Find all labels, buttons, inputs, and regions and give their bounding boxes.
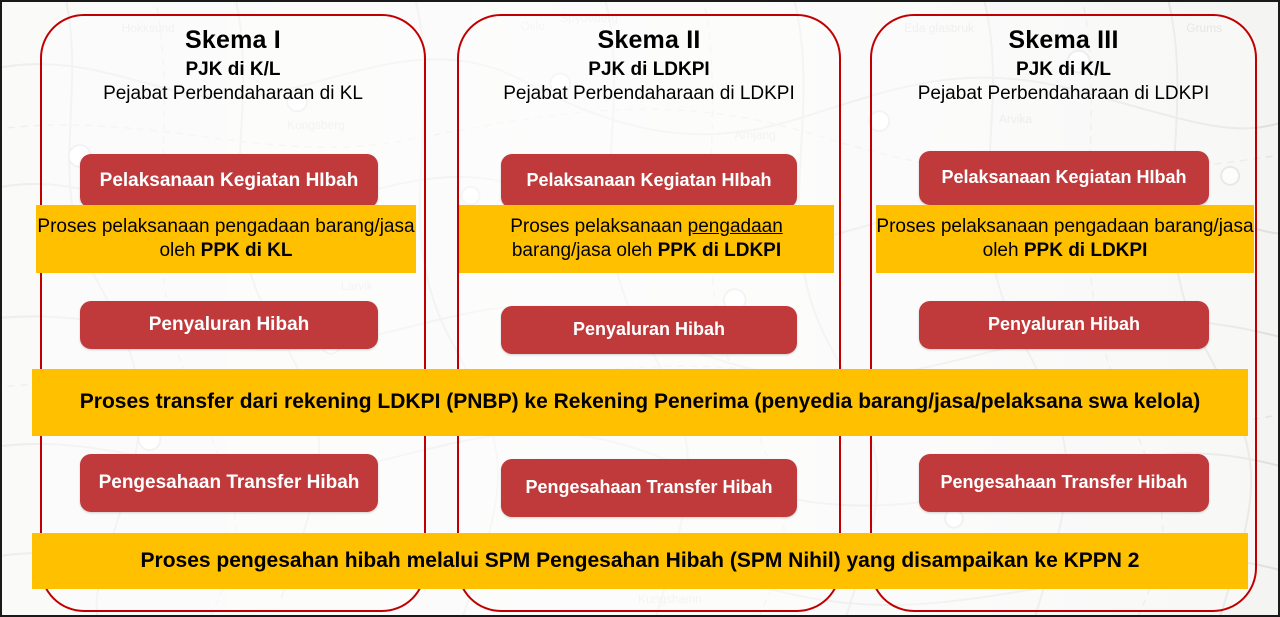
diagram-canvas: Kongsberg Larvik Oslo Arnjang Eda glasbr… (0, 0, 1280, 617)
banner-proses-transfer[interactable]: Proses transfer dari rekening LDKPI (PNB… (32, 369, 1248, 436)
banner-text: Proses transfer dari rekening LDKPI (PNB… (80, 389, 1200, 415)
bold-token: PPK di LDKPI (1024, 240, 1148, 261)
step-pelaksanaan-kegiatan-hibah-3[interactable]: Pelaksanaan Kegiatan HIbah (919, 151, 1209, 205)
step-penyaluran-hibah-3[interactable]: Penyaluran Hibah (919, 301, 1209, 349)
step-text: Proses pelaksanaan pengadaan barang/jasa… (36, 215, 416, 262)
scheme-2-title: Skema II (459, 26, 839, 56)
scheme-1-title: Skema I (42, 26, 424, 56)
step-label: Pengesahaan Transfer Hibah (940, 472, 1187, 494)
bold-token: PPK di KL (201, 240, 293, 261)
scheme-3-subtitle: PJK di K/L (872, 59, 1255, 81)
step-pengadaan-barang-jasa-1[interactable]: Proses pelaksanaan pengadaan barang/jasa… (36, 205, 416, 273)
scheme-2-caption: Pejabat Perbendaharaan di LDKPI (459, 83, 839, 105)
scheme-1-subtitle: PJK di K/L (42, 59, 424, 81)
step-pengesahaan-transfer-hibah-3[interactable]: Pengesahaan Transfer Hibah (919, 454, 1209, 512)
step-label: Pengesahaan Transfer Hibah (525, 477, 772, 499)
step-label: Pelaksanaan Kegiatan HIbah (100, 170, 359, 193)
step-label: Penyaluran Hibah (149, 314, 310, 337)
scheme-1-header: Skema I PJK di K/L Pejabat Perbendaharaa… (42, 26, 424, 105)
step-label: Pengesahaan Transfer Hibah (99, 472, 360, 495)
step-penyaluran-hibah-2[interactable]: Penyaluran Hibah (501, 306, 797, 354)
step-pengadaan-barang-jasa-2[interactable]: Proses pelaksanaan pengadaan barang/jasa… (459, 205, 834, 273)
scheme-1-caption: Pejabat Perbendaharaan di KL (42, 83, 424, 105)
step-text: Proses pelaksanaan pengadaan barang/jasa… (876, 215, 1254, 262)
scheme-3-header: Skema III PJK di K/L Pejabat Perbendahar… (872, 26, 1255, 105)
step-pengesahaan-transfer-hibah-1[interactable]: Pengesahaan Transfer Hibah (80, 454, 378, 512)
step-text: Proses pelaksanaan pengadaan barang/jasa… (459, 215, 834, 262)
underline-token: pengadaan (688, 216, 783, 237)
bold-token: PPK di LDKPI (658, 240, 782, 261)
scheme-3-title: Skema III (872, 26, 1255, 56)
step-label: Pelaksanaan Kegiatan HIbah (941, 167, 1186, 189)
banner-text: Proses pengesahan hibah melalui SPM Peng… (141, 548, 1140, 574)
scheme-3-caption: Pejabat Perbendaharaan di LDKPI (872, 83, 1255, 105)
banner-proses-pengesahan[interactable]: Proses pengesahan hibah melalui SPM Peng… (32, 533, 1248, 589)
step-pelaksanaan-kegiatan-hibah-1[interactable]: Pelaksanaan Kegiatan HIbah (80, 154, 378, 208)
scheme-2-header: Skema II PJK di LDKPI Pejabat Perbendaha… (459, 26, 839, 105)
scheme-2-subtitle: PJK di LDKPI (459, 59, 839, 81)
step-pengesahaan-transfer-hibah-2[interactable]: Pengesahaan Transfer Hibah (501, 459, 797, 517)
step-pelaksanaan-kegiatan-hibah-2[interactable]: Pelaksanaan Kegiatan HIbah (501, 154, 797, 208)
underline-token: pengadaan (215, 216, 310, 237)
step-label: Penyaluran Hibah (573, 319, 725, 341)
step-penyaluran-hibah-1[interactable]: Penyaluran Hibah (80, 301, 378, 349)
step-label: Pelaksanaan Kegiatan HIbah (526, 170, 771, 192)
step-pengadaan-barang-jasa-3[interactable]: Proses pelaksanaan pengadaan barang/jasa… (876, 205, 1254, 273)
step-label: Penyaluran Hibah (988, 314, 1140, 336)
underline-token: pengadaan (1054, 216, 1149, 237)
